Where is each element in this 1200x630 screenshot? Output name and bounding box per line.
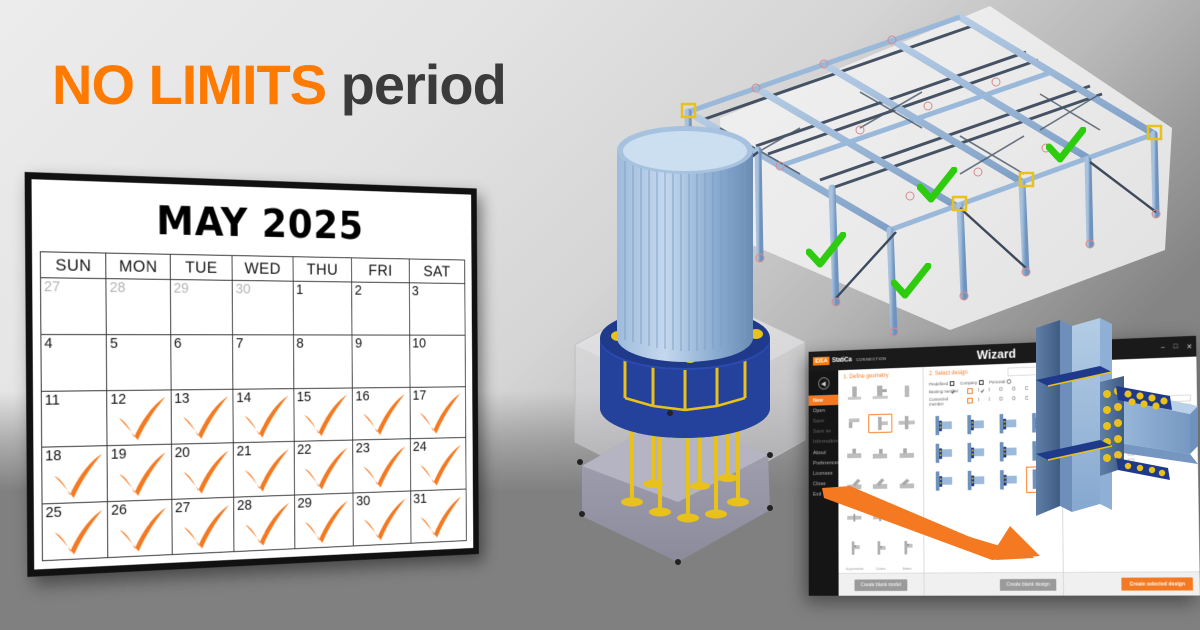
calendar-day-cell[interactable]: 10: [410, 335, 466, 387]
geometry-caption: Column: [869, 567, 893, 571]
calendar-day-number: 15: [297, 389, 312, 403]
panel-define-geometry: 1. Define geometry All geometriesColumnB…: [838, 367, 924, 596]
calendar-day-cell[interactable]: 30: [233, 281, 294, 335]
geometry-tile-splice-1[interactable]: [843, 507, 866, 526]
design-tile[interactable]: [929, 441, 958, 466]
calendar-day-header: TUE: [171, 255, 233, 281]
calendar-day-cell[interactable]: 24: [410, 438, 466, 491]
section-shape-active-icon[interactable]: [967, 388, 973, 394]
source-filter-predefined[interactable]: Predefined: [929, 381, 955, 387]
calendar-day-number: 21: [237, 444, 252, 459]
calendar-day-cell[interactable]: 22: [294, 441, 353, 496]
section-shape-icon-i[interactable]: I: [989, 387, 991, 393]
sidebar-item-close[interactable]: Close: [809, 479, 839, 490]
calendar-day-header: WED: [233, 256, 294, 282]
source-filter-label: Predefined: [929, 381, 948, 386]
calendar-day-cell[interactable]: 27: [172, 498, 234, 555]
green-check-3: [917, 167, 957, 205]
calendar-day-cell[interactable]: 30: [353, 492, 411, 547]
calendar-day-number: 6: [174, 336, 182, 351]
green-check-2: [891, 263, 931, 301]
calendar-day-header: SUN: [41, 252, 107, 279]
geometry-tile-beam-brace-2[interactable]: [869, 476, 893, 495]
geometry-tile-beam-tee-1[interactable]: [869, 445, 893, 465]
geometry-tile-base-plate-2[interactable]: [868, 382, 891, 402]
calendar-day-cell[interactable]: 13: [171, 389, 233, 445]
geometry-tile-plate-conn-1[interactable]: [843, 539, 866, 558]
connection-detail-3d-model: [1012, 318, 1200, 548]
geometry-tile-beam-brace-1[interactable]: [843, 476, 866, 495]
calendar-day-number: 17: [413, 388, 427, 402]
calendar-day-cell[interactable]: 19: [108, 445, 172, 502]
source-filter-label: Company: [960, 380, 977, 385]
calendar-day-number: 28: [110, 280, 126, 295]
calendar-day-number: 30: [236, 282, 251, 296]
checkbox-icon[interactable]: [979, 380, 984, 385]
calendar-day-cell[interactable]: 25: [43, 502, 109, 561]
calendar-day-cell[interactable]: 29: [295, 494, 354, 550]
calendar-day-cell[interactable]: 28: [234, 496, 295, 552]
calendar-day-number: 27: [44, 279, 60, 294]
calendar-day-cell[interactable]: 1: [293, 282, 352, 336]
page-title: NO LIMITS period: [52, 57, 506, 113]
source-filter-personal[interactable]: Personal: [989, 379, 1012, 385]
create-blank-design-button[interactable]: Create blank design: [1000, 578, 1057, 590]
calendar-day-number: 13: [174, 391, 189, 406]
calendar-day-number: 8: [296, 336, 303, 350]
calendar-day-cell[interactable]: 4: [41, 335, 107, 392]
calendar-day-cell[interactable]: 21: [234, 442, 295, 498]
calendar-day-number: 28: [237, 498, 252, 513]
calendar-day-cell[interactable]: 9: [352, 335, 410, 388]
calendar-day-header: MON: [107, 254, 171, 280]
sidebar-item-preferences[interactable]: Preferences: [809, 458, 839, 469]
calendar-day-number: 20: [175, 446, 190, 461]
design-tile[interactable]: [961, 412, 990, 437]
calendar-week-row: 27282930123: [41, 278, 466, 335]
sidebar-items[interactable]: NewOpenSaveSave asInformationAboutPrefer…: [809, 395, 839, 501]
calendar-day-cell[interactable]: 16: [353, 387, 411, 440]
calendar-day-number: 19: [111, 447, 127, 462]
calendar-day-cell[interactable]: 28: [107, 279, 171, 335]
sidebar[interactable]: ◀ NewOpenSaveSave asInformationAboutPref…: [809, 370, 839, 596]
design-tile[interactable]: [929, 469, 958, 494]
calendar-day-number: 26: [111, 503, 127, 518]
calendar-day-cell[interactable]: 8: [294, 335, 353, 389]
sidebar-item-information[interactable]: Information: [809, 437, 839, 448]
member-filter-label: Connected member: [929, 396, 962, 407]
geometry-tile-plate-conn-2[interactable]: [869, 538, 893, 557]
calendar-day-number: 2: [355, 283, 362, 297]
member-filter-label: Bearing member: [929, 388, 962, 394]
geometry-tile-cross-joint[interactable]: [895, 413, 919, 433]
calendar: MAY 2025 SUNMONTUEWEDTHUFRISAT 272829301…: [25, 172, 479, 577]
panel-properties-footer: Create selected design: [1064, 571, 1200, 595]
calendar-day-number: 29: [173, 281, 188, 296]
calendar-day-number: 7: [236, 336, 244, 350]
calendar-week-row: 45678910: [41, 335, 465, 392]
create-blank-model-button[interactable]: Create blank model: [855, 579, 908, 591]
calendar-day-cell[interactable]: 3: [409, 283, 465, 335]
calendar-day-number: 11: [45, 392, 60, 407]
create-selected-design-button[interactable]: Create selected design: [1122, 577, 1193, 590]
section-shape-icon-o[interactable]: O: [999, 397, 1004, 403]
calendar-day-number: 31: [413, 492, 427, 506]
calendar-day-cell[interactable]: 15: [294, 388, 353, 442]
geometry-tile-beam-splice-1[interactable]: [843, 445, 866, 464]
calendar-day-cell[interactable]: 31: [411, 490, 467, 544]
calendar-weeks: 2728293012345678910111213141516171819202…: [41, 278, 467, 561]
geometry-tile-blank-1[interactable]: [895, 381, 919, 401]
geometry-tile-corner-joint[interactable]: [843, 414, 866, 434]
headline-part-secondary: period: [341, 53, 506, 116]
section-shape-icon-i[interactable]: I: [989, 397, 991, 403]
geometry-tile-beam-tee-2[interactable]: [895, 444, 919, 464]
green-check-4: [1046, 127, 1086, 165]
section-shape-icon-i[interactable]: I: [978, 397, 980, 403]
calendar-day-number: 14: [236, 390, 251, 404]
sidebar-item-exit[interactable]: Exit: [809, 489, 839, 500]
calendar-day-cell[interactable]: 2: [352, 282, 410, 335]
calendar-day-number: 22: [297, 443, 312, 457]
panel-design-footer: Create blank design: [924, 572, 1063, 596]
checkbox-icon[interactable]: [950, 381, 955, 386]
geometry-tile-tee-joint[interactable]: [869, 413, 892, 433]
geometry-tile-base-plate-1[interactable]: [843, 383, 866, 403]
calendar-title: MAY 2025: [39, 185, 465, 259]
geometry-tile-beam-brace-3[interactable]: [895, 475, 919, 495]
section-shape-icon-o[interactable]: O: [999, 387, 1004, 393]
calendar-day-number: 18: [45, 449, 61, 464]
design-tile[interactable]: [929, 413, 958, 438]
calendar-day-cell[interactable]: 18: [42, 447, 108, 505]
section-shape-active-icon[interactable]: [967, 398, 973, 404]
design-tile[interactable]: [961, 440, 990, 465]
calendar-day-number: 4: [44, 336, 52, 351]
calendar-day-number: 9: [355, 336, 362, 350]
calendar-day-cell[interactable]: 20: [172, 444, 234, 500]
calendar-day-number: 27: [175, 500, 190, 515]
calendar-day-cell[interactable]: 6: [171, 335, 234, 390]
calendar-day-header: SAT: [409, 259, 465, 284]
calendar-day-number: 3: [412, 284, 419, 298]
radio-icon[interactable]: [1007, 379, 1012, 384]
sidebar-item-licenses[interactable]: Licenses: [809, 468, 839, 479]
calendar-day-number: 1: [296, 283, 303, 297]
calendar-day-cell[interactable]: 11: [42, 391, 108, 448]
calendar-day-number: 29: [297, 496, 312, 511]
calendar-day-number: 5: [110, 336, 118, 351]
calendar-day-cell[interactable]: 14: [234, 389, 295, 444]
back-arrow-icon[interactable]: ◀: [818, 377, 829, 390]
calendar-day-number: 12: [110, 391, 126, 406]
geometry-tile-splice-2[interactable]: [869, 507, 893, 526]
calendar-day-number: 24: [413, 440, 427, 454]
calendar-day-cell[interactable]: 5: [107, 335, 171, 391]
source-filter-label: Personal: [989, 379, 1005, 384]
calendar-day-header: THU: [293, 257, 352, 282]
sidebar-item-about[interactable]: About: [809, 447, 839, 458]
calendar-day-cell[interactable]: 12: [108, 390, 172, 446]
geometry-tile-splice-3[interactable]: [895, 507, 919, 526]
calendar-day-cell[interactable]: 7: [233, 335, 294, 389]
calendar-card: MAY 2025 SUNMONTUEWEDTHUFRISAT 272829301…: [25, 172, 479, 577]
calendar-day-cell[interactable]: 29: [171, 280, 234, 335]
calendar-grid: SUNMONTUEWEDTHUFRISAT 272829301234567891…: [40, 251, 467, 561]
geometry-template-grid[interactable]: [838, 381, 923, 567]
source-filter-company[interactable]: Company: [960, 380, 984, 386]
calendar-day-cell[interactable]: 23: [353, 440, 411, 494]
panel-geometry-footer: Create blank model: [839, 573, 924, 596]
calendar-day-number: 23: [356, 441, 370, 455]
calendar-day-number: 25: [45, 505, 61, 521]
calendar-day-cell[interactable]: 27: [41, 278, 107, 335]
geometry-caption: Beams: [895, 567, 919, 571]
calendar-day-number: 30: [356, 494, 370, 508]
calendar-day-cell[interactable]: 26: [108, 500, 172, 558]
calendar-day-number: 16: [355, 389, 369, 403]
calendar-day-header: FRI: [352, 258, 409, 283]
calendar-day-cell[interactable]: 17: [410, 387, 466, 440]
section-shape-icon-i[interactable]: I: [978, 387, 980, 393]
calendar-day-number: 10: [412, 336, 426, 350]
geometry-caption: All geometries: [843, 567, 866, 571]
design-tile[interactable]: [961, 468, 990, 493]
column-base-3d-model: [520, 110, 850, 590]
headline-part-primary: NO LIMITS: [52, 53, 326, 116]
geometry-tile-plate-conn-3[interactable]: [895, 538, 919, 557]
